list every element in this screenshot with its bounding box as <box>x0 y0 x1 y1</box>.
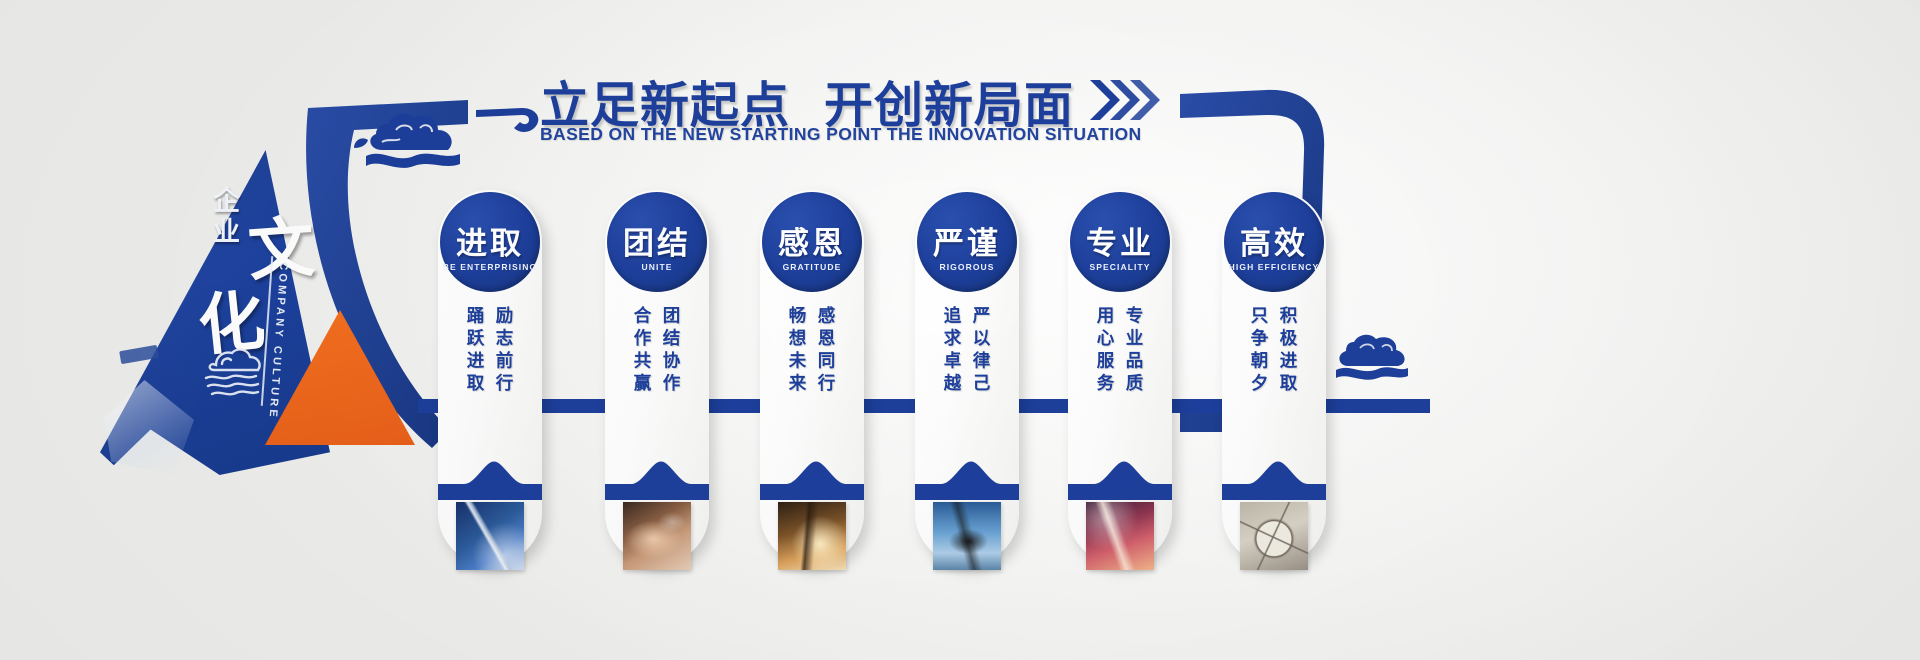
photo-eagle-flight <box>933 502 1001 570</box>
auspicious-cloud-icon <box>352 108 470 180</box>
slogan-line-b-4: 追求卓越 <box>940 306 965 456</box>
value-badge-5: 专业 SPECIALITY <box>1070 192 1170 292</box>
value-title-cn-3: 感恩 <box>762 218 862 263</box>
value-pill-2[interactable]: 团结 UNITE 团结协作 合作共赢 <box>605 190 709 565</box>
mountain-divider-5 <box>1068 458 1172 500</box>
culture-wall-scene: 企业 文 化 COMPANY CULTURE 立足新起点开创新局面 BASED … <box>0 0 1920 660</box>
wave-cloud-icon <box>200 345 270 403</box>
value-title-en-4: RIGOROUS <box>917 262 1017 272</box>
value-title-en-2: UNITE <box>607 262 707 272</box>
mountain-divider-3 <box>760 458 864 500</box>
value-pill-3[interactable]: 感恩 GRATITUDE 感恩同行 畅想未来 <box>760 190 864 565</box>
value-badge-6: 高效 HIGH EFFICIENCY <box>1224 192 1324 292</box>
photo-handshake-hands <box>623 502 691 570</box>
value-title-cn-1: 进取 <box>440 218 540 263</box>
value-pill-4[interactable]: 严谨 RIGOROUS 严以律己 追求卓越 <box>915 190 1019 565</box>
value-badge-2: 团结 UNITE <box>607 192 707 292</box>
mountain-divider-6 <box>1222 458 1326 500</box>
value-title-en-6: HIGH EFFICIENCY <box>1224 262 1324 272</box>
slogan-line-a-1: 励志前行 <box>492 306 517 456</box>
slogan-line-b-3: 畅想未来 <box>785 306 810 456</box>
value-slogan-1: 励志前行 踊跃进取 <box>438 306 542 456</box>
value-pill-1[interactable]: 进取 BE ENTERPRISING 励志前行 踊跃进取 <box>438 190 542 565</box>
value-title-cn-2: 团结 <box>607 218 707 263</box>
value-badge-1: 进取 BE ENTERPRISING <box>440 192 540 292</box>
slogan-line-a-2: 团结协作 <box>659 306 684 456</box>
value-badge-3: 感恩 GRATITUDE <box>762 192 862 292</box>
chevrons-right-icon <box>1090 78 1164 122</box>
value-title-en-3: GRATITUDE <box>762 262 862 272</box>
slogan-line-b-1: 踊跃进取 <box>463 306 488 456</box>
value-badge-4: 严谨 RIGOROUS <box>917 192 1017 292</box>
value-pill-6[interactable]: 高效 HIGH EFFICIENCY 积极进取 只争朝夕 <box>1222 190 1326 565</box>
value-title-cn-6: 高效 <box>1224 218 1324 263</box>
photo-runner-track <box>1086 502 1154 570</box>
slogan-line-a-6: 积极进取 <box>1276 306 1301 456</box>
photo-person-sunlight <box>778 502 846 570</box>
slogan-line-a-4: 严以律己 <box>969 306 994 456</box>
value-slogan-5: 专业品质 用心服务 <box>1068 306 1172 456</box>
panel-title-small: 企业 <box>205 186 244 248</box>
auspicious-cloud-icon-right <box>1330 330 1410 382</box>
value-pill-5[interactable]: 专业 SPECIALITY 专业品质 用心服务 <box>1068 190 1172 565</box>
mountain-divider-1 <box>438 458 542 500</box>
photo-pen-on-blue <box>456 502 524 570</box>
value-title-en-5: SPECIALITY <box>1070 262 1170 272</box>
slogan-line-b-5: 用心服务 <box>1093 306 1118 456</box>
mountain-divider-2 <box>605 458 709 500</box>
value-title-en-1: BE ENTERPRISING <box>440 262 540 272</box>
page-subtitle: BASED ON THE NEW STARTING POINT THE INNO… <box>540 124 1142 145</box>
value-slogan-2: 团结协作 合作共赢 <box>605 306 709 456</box>
mountain-divider-4 <box>915 458 1019 500</box>
value-slogan-4: 严以律己 追求卓越 <box>915 306 1019 456</box>
value-title-cn-5: 专业 <box>1070 218 1170 263</box>
photo-pocket-watch <box>1240 502 1308 570</box>
value-slogan-3: 感恩同行 畅想未来 <box>760 306 864 456</box>
value-slogan-6: 积极进取 只争朝夕 <box>1222 306 1326 456</box>
slogan-line-b-6: 只争朝夕 <box>1247 306 1272 456</box>
value-title-cn-4: 严谨 <box>917 218 1017 263</box>
slogan-line-b-2: 合作共赢 <box>630 306 655 456</box>
slogan-line-a-5: 专业品质 <box>1122 306 1147 456</box>
slogan-line-a-3: 感恩同行 <box>814 306 839 456</box>
